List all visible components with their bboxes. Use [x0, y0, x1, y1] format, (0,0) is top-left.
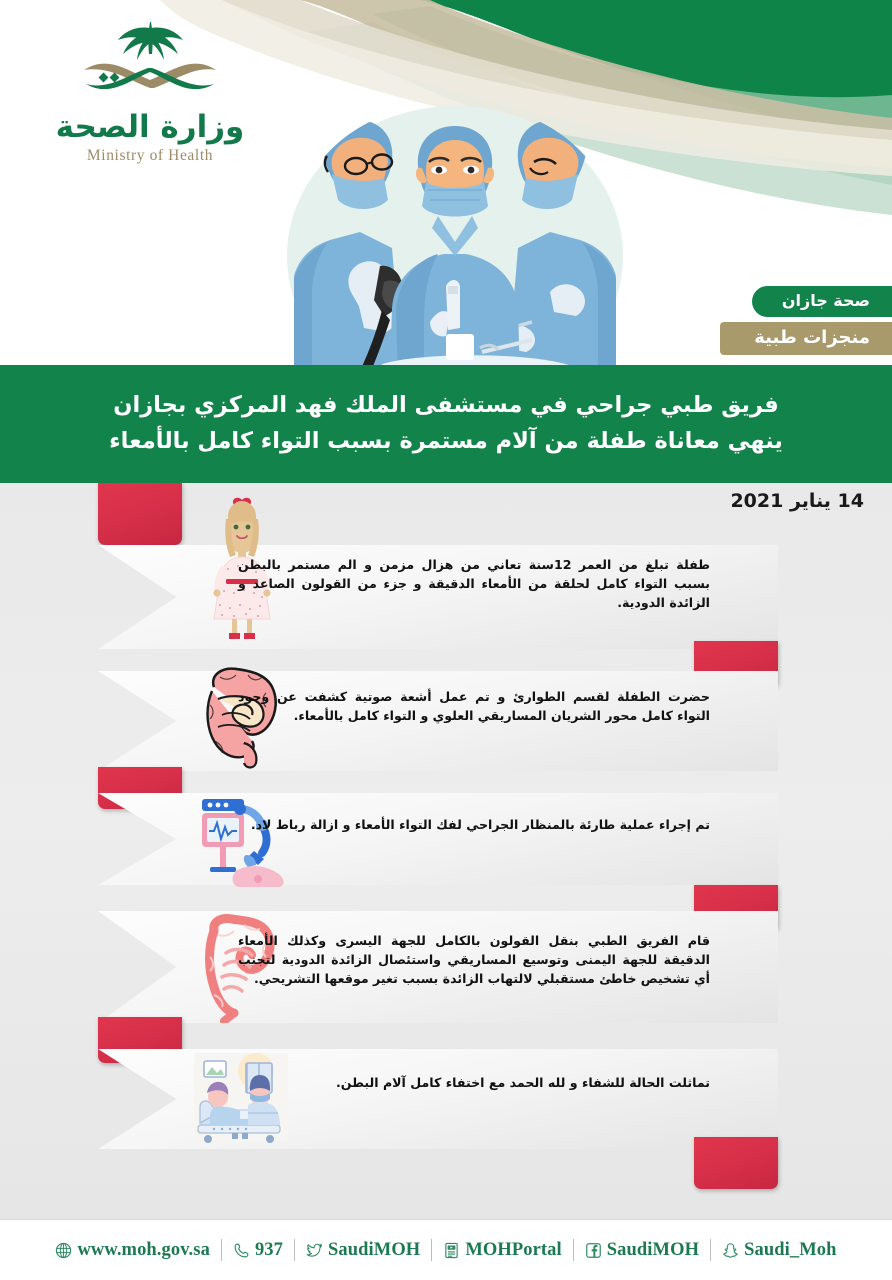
footer-twitter[interactable]: SaudiMOH [295, 1240, 431, 1261]
region-badge: صحة جازان [752, 286, 892, 317]
step-3-text: تم إجراء عملية طارئة بالمنظار الجراحي لف… [238, 815, 710, 834]
phone-icon [233, 1242, 250, 1259]
footer-phone[interactable]: 937 [222, 1240, 294, 1261]
step-2-text: حضرت الطفلة لقسم الطوارئ و تم عمل أشعة ص… [238, 687, 710, 725]
patient-recovery-hospital-bed-icon [192, 1051, 290, 1147]
moh-logo: وزارة الصحة Ministry of Health [40, 18, 260, 165]
footer-website[interactable]: www.moh.gov.sa [44, 1240, 220, 1261]
step-1-text: طفلة تبلغ من العمر 12سنة تعاني من هزال م… [238, 555, 710, 612]
footer-contact-bar: www.moh.gov.sa 937 SaudiMOH MOHPortal Sa… [0, 1220, 892, 1280]
step-3: تم إجراء عملية طارئة بالمنظار الجراحي لف… [0, 771, 892, 889]
steps-container: طفلة تبلغ من العمر 12سنة تعاني من هزال م… [0, 483, 892, 1220]
step-1-tab [98, 483, 182, 545]
step-5-text: تماثلت الحالة للشفاء و لله الحمد مع اختف… [238, 1073, 710, 1092]
footer-snapchat[interactable]: Saudi_Moh [711, 1240, 847, 1261]
step-5-end-tab [694, 1137, 778, 1189]
footer-twitter-label: SaudiMOH [328, 1240, 420, 1261]
footer-facebook-label: SaudiMOH [607, 1240, 699, 1261]
globe-icon [55, 1242, 72, 1259]
main-title-banner: فريق طبي جراحي في مستشفى الملك فهد المرك… [0, 365, 892, 483]
step-4-text: قام الفريق الطبي بنقل القولون بالكامل لل… [238, 931, 710, 988]
step-2: حضرت الطفلة لقسم الطوارئ و تم عمل أشعة ص… [0, 641, 892, 771]
surgical-team-illustration [232, 96, 678, 378]
step-4: قام الفريق الطبي بنقل القولون بالكامل لل… [0, 887, 892, 1027]
youtube-icon [443, 1242, 460, 1259]
logo-name-english: Ministry of Health [40, 147, 260, 165]
footer-website-label: www.moh.gov.sa [77, 1240, 209, 1261]
facebook-icon [585, 1242, 602, 1259]
logo-name-arabic: وزارة الصحة [40, 110, 260, 146]
laparoscopic-surgery-monitor-icon [196, 791, 290, 887]
publish-date: 14 يناير 2021 [730, 490, 864, 512]
category-badge: منجزات طبية [720, 322, 892, 355]
footer-snapchat-label: Saudi_Moh [744, 1240, 836, 1261]
moh-palm-swords-logo [68, 18, 233, 110]
footer-facebook[interactable]: SaudiMOH [574, 1240, 710, 1261]
twitter-icon [306, 1242, 323, 1259]
footer-youtube[interactable]: MOHPortal [432, 1240, 572, 1261]
step-5: تماثلت الحالة للشفاء و لله الحمد مع اختف… [0, 1025, 892, 1193]
footer-phone-label: 937 [255, 1240, 283, 1261]
title-line-2: ينهي معاناة طفلة من آلام مستمرة بسبب الت… [109, 424, 783, 460]
footer-youtube-label: MOHPortal [465, 1240, 561, 1261]
title-line-1: فريق طبي جراحي في مستشفى الملك فهد المرك… [113, 388, 778, 424]
snapchat-icon [722, 1242, 739, 1259]
